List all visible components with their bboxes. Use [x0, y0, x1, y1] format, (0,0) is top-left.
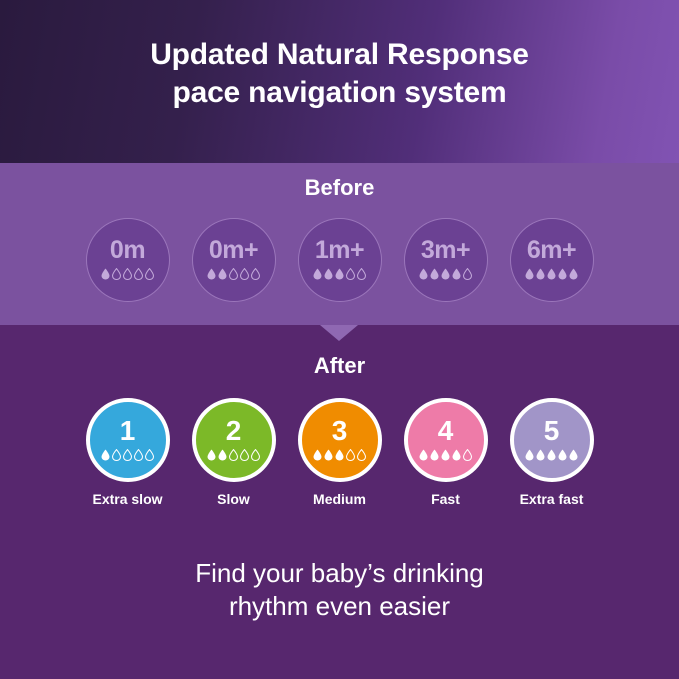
droplet-filled-icon — [218, 268, 227, 280]
droplet-filled-icon — [536, 449, 545, 461]
before-age-label: 0m — [110, 238, 145, 263]
before-item: 0m — [75, 218, 181, 302]
droplet-meter — [313, 449, 366, 461]
after-flow-number: 2 — [226, 417, 242, 445]
after-flow-number: 5 — [544, 417, 560, 445]
droplet-meter — [101, 268, 154, 280]
footer-tagline: Find your baby’s drinking rhythm even ea… — [0, 557, 679, 623]
droplet-meter — [525, 449, 578, 461]
droplet-empty-icon — [463, 268, 472, 280]
droplet-filled-icon — [452, 268, 461, 280]
before-age-label: 3m+ — [421, 238, 470, 263]
droplet-filled-icon — [207, 268, 216, 280]
droplet-filled-icon — [525, 449, 534, 461]
before-circle: 3m+ — [404, 218, 488, 302]
before-item: 0m+ — [181, 218, 287, 302]
droplet-empty-icon — [240, 268, 249, 280]
droplet-meter — [101, 449, 154, 461]
droplet-empty-icon — [251, 268, 260, 280]
droplet-filled-icon — [558, 449, 567, 461]
after-circle-row: 1Extra slow2Slow3Medium4Fast5Extra fast — [0, 398, 679, 508]
footer-line-1: Find your baby’s drinking — [195, 558, 484, 588]
after-item-5[interactable]: 5Extra fast — [499, 398, 605, 508]
after-item-1[interactable]: 1Extra slow — [75, 398, 181, 508]
droplet-empty-icon — [145, 268, 154, 280]
droplet-filled-icon — [419, 449, 428, 461]
droplet-filled-icon — [324, 268, 333, 280]
droplet-empty-icon — [240, 449, 249, 461]
droplet-empty-icon — [229, 449, 238, 461]
droplet-filled-icon — [569, 449, 578, 461]
before-item: 6m+ — [499, 218, 605, 302]
droplet-empty-icon — [463, 449, 472, 461]
droplet-empty-icon — [346, 449, 355, 461]
before-circle-row: 0m0m+1m+3m+6m+ — [0, 218, 679, 302]
before-item: 3m+ — [393, 218, 499, 302]
droplet-empty-icon — [112, 268, 121, 280]
droplet-filled-icon — [313, 268, 322, 280]
before-heading: Before — [0, 175, 679, 201]
after-flow-number: 1 — [120, 417, 136, 445]
droplet-empty-icon — [346, 268, 355, 280]
droplet-meter — [419, 268, 472, 280]
after-item-4[interactable]: 4Fast — [393, 398, 499, 508]
after-flow-label: Extra slow — [78, 491, 178, 508]
after-circle-1[interactable]: 1 — [86, 398, 170, 482]
droplet-filled-icon — [101, 449, 110, 461]
droplet-filled-icon — [525, 268, 534, 280]
droplet-empty-icon — [112, 449, 121, 461]
droplet-empty-icon — [134, 268, 143, 280]
triangle-down-icon — [320, 325, 358, 341]
footer-line-2: rhythm even easier — [0, 590, 679, 623]
before-circle: 0m+ — [192, 218, 276, 302]
header-title-line-1: Updated Natural Response — [150, 38, 529, 71]
droplet-meter — [207, 449, 260, 461]
droplet-empty-icon — [251, 449, 260, 461]
droplet-filled-icon — [430, 449, 439, 461]
after-flow-label: Medium — [290, 491, 390, 508]
before-age-label: 0m+ — [209, 238, 258, 263]
droplet-empty-icon — [145, 449, 154, 461]
after-flow-label: Extra fast — [502, 491, 602, 508]
droplet-empty-icon — [357, 268, 366, 280]
droplet-filled-icon — [558, 268, 567, 280]
droplet-meter — [207, 268, 260, 280]
after-circle-3[interactable]: 3 — [298, 398, 382, 482]
before-circle: 6m+ — [510, 218, 594, 302]
droplet-meter — [419, 449, 472, 461]
droplet-empty-icon — [123, 268, 132, 280]
droplet-empty-icon — [229, 268, 238, 280]
header-banner: Updated Natural Response pace navigation… — [0, 0, 679, 163]
after-heading: After — [0, 353, 679, 379]
after-flow-label: Fast — [396, 491, 496, 508]
droplet-filled-icon — [207, 449, 216, 461]
before-circle: 0m — [86, 218, 170, 302]
droplet-filled-icon — [101, 268, 110, 280]
after-item-3[interactable]: 3Medium — [287, 398, 393, 508]
droplet-filled-icon — [335, 268, 344, 280]
droplet-filled-icon — [441, 268, 450, 280]
droplet-filled-icon — [536, 268, 545, 280]
after-flow-number: 3 — [332, 417, 348, 445]
after-circle-2[interactable]: 2 — [192, 398, 276, 482]
droplet-filled-icon — [335, 449, 344, 461]
after-flow-label: Slow — [184, 491, 284, 508]
before-circle: 1m+ — [298, 218, 382, 302]
droplet-filled-icon — [547, 449, 556, 461]
droplet-filled-icon — [569, 268, 578, 280]
before-age-label: 1m+ — [315, 238, 364, 263]
droplet-filled-icon — [547, 268, 556, 280]
droplet-empty-icon — [357, 449, 366, 461]
after-circle-5[interactable]: 5 — [510, 398, 594, 482]
droplet-empty-icon — [123, 449, 132, 461]
droplet-filled-icon — [419, 268, 428, 280]
before-age-label: 6m+ — [527, 238, 576, 263]
droplet-filled-icon — [313, 449, 322, 461]
natural-response-infographic: Updated Natural Response pace navigation… — [0, 0, 679, 679]
droplet-filled-icon — [430, 268, 439, 280]
before-item: 1m+ — [287, 218, 393, 302]
after-flow-number: 4 — [438, 417, 454, 445]
droplet-filled-icon — [441, 449, 450, 461]
page-title: Updated Natural Response pace navigation… — [0, 36, 679, 112]
droplet-meter — [313, 268, 366, 280]
droplet-filled-icon — [452, 449, 461, 461]
droplet-meter — [525, 268, 578, 280]
droplet-empty-icon — [134, 449, 143, 461]
header-title-line-2: pace navigation system — [0, 74, 679, 112]
droplet-filled-icon — [218, 449, 227, 461]
droplet-filled-icon — [324, 449, 333, 461]
after-item-2[interactable]: 2Slow — [181, 398, 287, 508]
after-circle-4[interactable]: 4 — [404, 398, 488, 482]
